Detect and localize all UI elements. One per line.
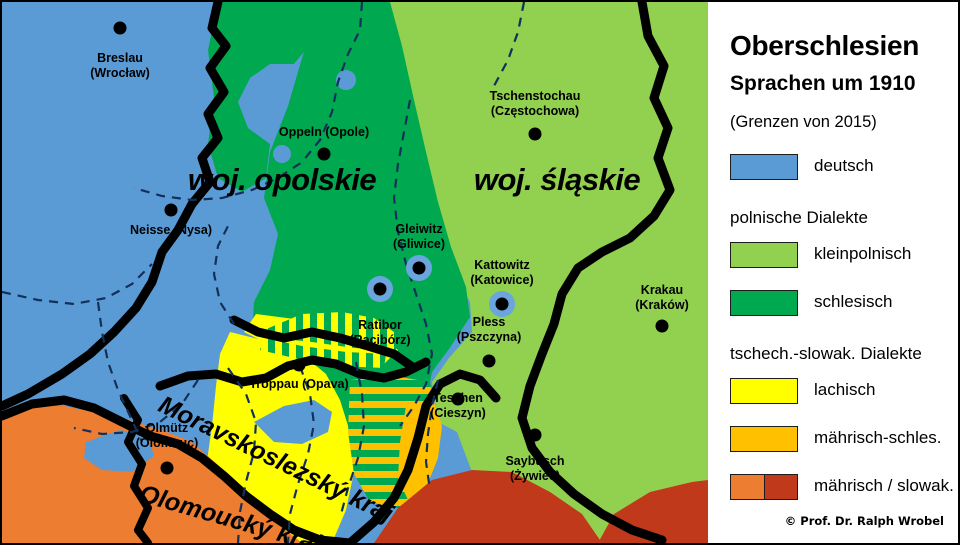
legend-item[interactable]: deutsch	[712, 154, 958, 184]
legend-item-label: mährisch-schles.	[814, 428, 942, 448]
city-dot[interactable]	[483, 355, 496, 368]
city-dot[interactable]	[452, 393, 465, 406]
city-dot[interactable]	[496, 298, 509, 311]
legend-group-heading: polnische Dialekte	[730, 208, 868, 228]
city-dot[interactable]	[293, 359, 306, 372]
city-dot[interactable]	[318, 148, 331, 161]
legend-panel: Oberschlesien Sprachen um 1910 (Grenzen …	[712, 2, 958, 543]
legend-item[interactable]: mährisch / slowak.	[712, 474, 958, 504]
legend-item-label: schlesisch	[814, 292, 892, 312]
map-canvas[interactable]: Breslau(Wrocław)Oppeln (Opole)Tschenstoc…	[2, 2, 708, 543]
legend-item-label: lachisch	[814, 380, 875, 400]
voivodeship-label: woj. śląskie	[474, 162, 640, 198]
city-dot[interactable]	[656, 320, 669, 333]
legend-swatch	[730, 290, 798, 316]
legend-item[interactable]: lachisch	[712, 378, 958, 408]
legend-item-label: kleinpolnisch	[814, 244, 911, 264]
legend-swatch	[730, 378, 798, 404]
legend-swatch	[730, 154, 798, 180]
legend-credit: © Prof. Dr. Ralph Wrobel	[712, 514, 944, 528]
city-dot[interactable]	[529, 128, 542, 141]
legend-subtitle: Sprachen um 1910	[730, 72, 916, 96]
legend-item[interactable]: kleinpolnisch	[712, 242, 958, 272]
legend-item-label: deutsch	[814, 156, 874, 176]
legend-swatch-color	[731, 155, 797, 179]
map-figure: Breslau(Wrocław)Oppeln (Opole)Tschenstoc…	[0, 0, 960, 545]
legend-swatch	[730, 426, 798, 452]
legend-swatch-color	[731, 291, 797, 315]
legend-swatch-color	[731, 379, 797, 403]
city-dot[interactable]	[165, 204, 178, 217]
legend-swatch-color	[764, 475, 798, 499]
legend-item[interactable]: mährisch-schles.	[712, 426, 958, 456]
legend-swatch	[730, 474, 798, 500]
city-dot[interactable]	[161, 462, 174, 475]
legend-swatch-color	[731, 243, 797, 267]
legend-group-heading: tschech.-slowak. Dialekte	[730, 344, 922, 364]
legend-title: Oberschlesien	[730, 30, 919, 62]
legend-swatch-color	[731, 475, 764, 499]
voivodeship-label: woj. opolskie	[188, 162, 376, 198]
enclave-deutsch-b	[273, 145, 291, 163]
city-dot[interactable]	[413, 262, 426, 275]
legend-swatch-color	[731, 427, 797, 451]
map-regions-svg	[2, 2, 708, 543]
city-dot[interactable]	[374, 283, 387, 296]
legend-item[interactable]: schlesisch	[712, 290, 958, 320]
legend-swatch	[730, 242, 798, 268]
city-dot[interactable]	[529, 429, 542, 442]
legend-note: (Grenzen von 2015)	[730, 113, 877, 132]
city-dot[interactable]	[114, 22, 127, 35]
legend-item-label: mährisch / slowak.	[814, 476, 954, 496]
